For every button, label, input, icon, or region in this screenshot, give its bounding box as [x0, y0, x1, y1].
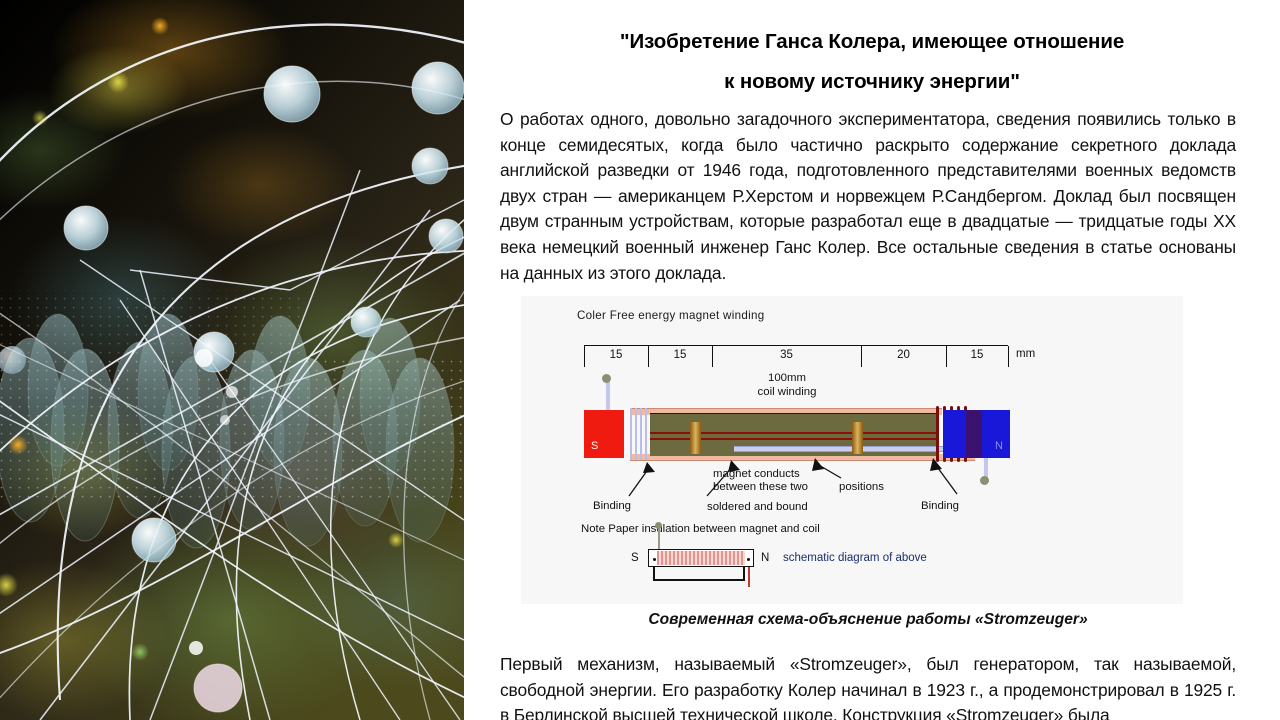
schematic-lead-right — [743, 567, 745, 581]
callout-soldered-bound: soldered and bound — [707, 501, 808, 513]
schematic-terminal-head-icon — [655, 522, 662, 529]
callout-binding-left: Binding — [593, 500, 631, 512]
callout-magnet-conducts-2: between these two — [713, 481, 808, 493]
schematic-terminal-post — [658, 528, 660, 549]
schematic-south-label: S — [631, 552, 639, 564]
figure-caption: Современная схема-объяснение работы «Str… — [500, 611, 1236, 629]
schematic-coil-hatch — [657, 551, 745, 565]
title-line-1: "Изобретение Ганса Колера, имеющее отнош… — [484, 22, 1260, 62]
callout-binding-right: Binding — [921, 500, 959, 512]
paragraph-stromzeuger: Первый механизм, называемый «Stromzeuger… — [500, 652, 1236, 720]
content-column: "Изобретение Ганса Колера, имеющее отнош… — [464, 0, 1280, 720]
schematic-diagram: S N schematic diagram of above — [631, 544, 1051, 584]
technical-figure: Coler Free energy magnet winding 15 15 3… — [521, 296, 1183, 604]
callout-magnet-conducts-1: magnet conducts — [713, 468, 800, 480]
slide-title: "Изобретение Ганса Колера, имеющее отнош… — [484, 22, 1260, 102]
schematic-coil-box — [648, 549, 754, 567]
artwork-panel — [0, 0, 464, 720]
schematic-north-label: N — [761, 552, 769, 564]
callout-positions: positions — [839, 481, 884, 493]
callout-paper-note: Note Paper insulation between magnet and… — [581, 523, 820, 535]
schematic-lead-bottom — [653, 579, 745, 581]
schematic-lead-red — [748, 567, 750, 587]
paragraph-intro: О работах одного, довольно загадочного э… — [500, 107, 1236, 286]
title-line-2: к новому источнику энергии" — [484, 62, 1260, 102]
schematic-description: schematic diagram of above — [783, 552, 927, 564]
abstract-network-illustration — [0, 0, 464, 720]
slide-root: "Изобретение Ганса Колера, имеющее отнош… — [0, 0, 1280, 720]
